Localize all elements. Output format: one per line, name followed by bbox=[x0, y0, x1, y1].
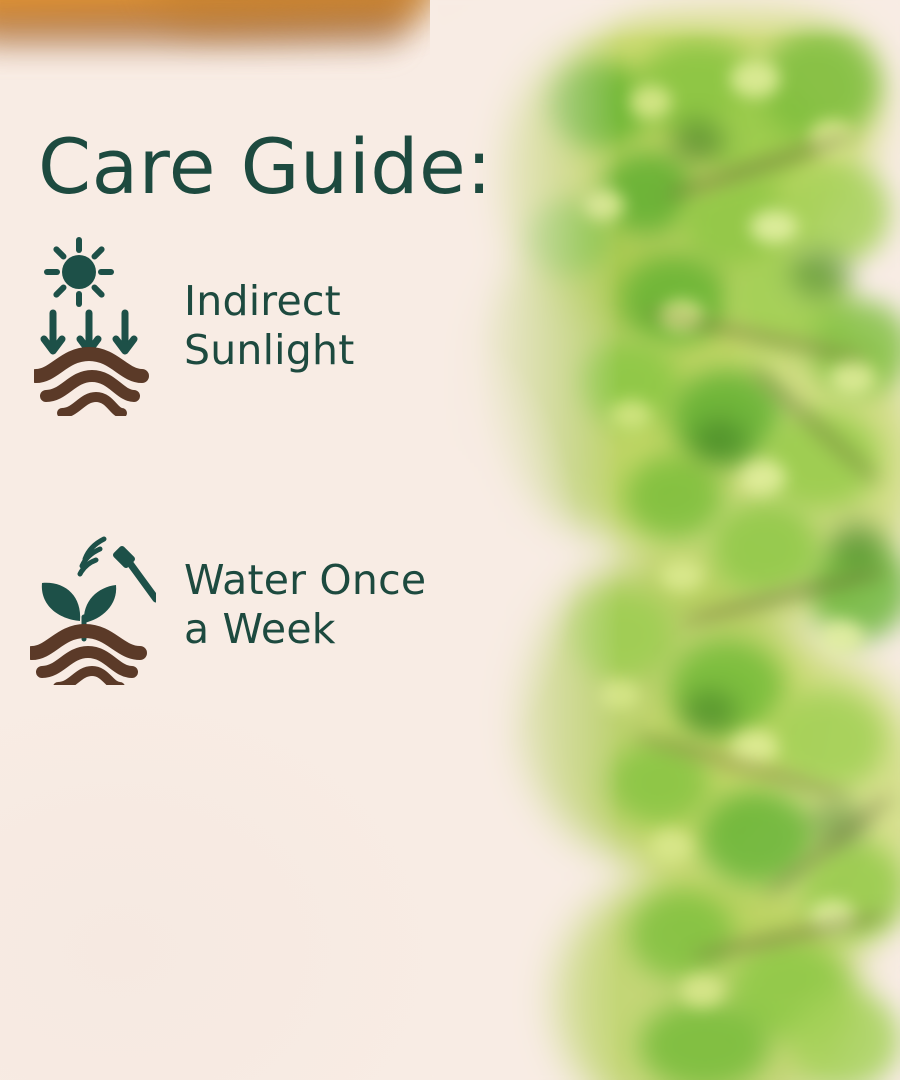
care-guide-card: Care Guide: bbox=[0, 0, 900, 1080]
soil-waves-icon bbox=[36, 354, 142, 413]
page-title: Care Guide: bbox=[38, 129, 492, 205]
indirect-sunlight-icon bbox=[34, 236, 156, 416]
sprayer-icon bbox=[80, 539, 156, 599]
care-item-label-indirect-sunlight: Indirect Sunlight bbox=[184, 277, 354, 375]
down-arrows-icon bbox=[44, 313, 134, 351]
care-guide-content: Care Guide: bbox=[0, 0, 560, 1080]
sun-icon bbox=[47, 240, 111, 304]
care-item-water-once-a-week: Water Once a Week bbox=[30, 525, 426, 685]
water-once-a-week-icon bbox=[30, 525, 152, 685]
care-item-label-water-once-a-week: Water Once a Week bbox=[184, 556, 426, 654]
care-item-indirect-sunlight: Indirect Sunlight bbox=[34, 236, 354, 416]
